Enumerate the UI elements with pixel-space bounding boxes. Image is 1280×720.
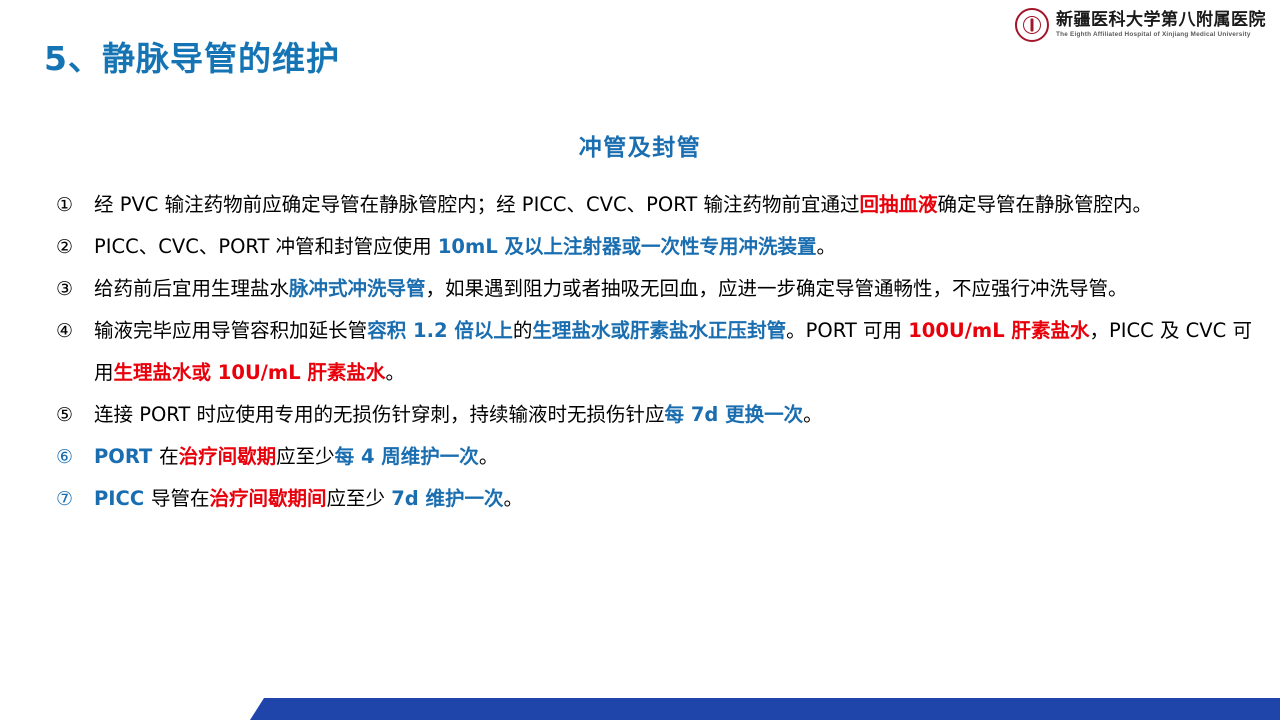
text-segment-black: 连接 PORT 时应使用专用的无损伤针穿刺，持续输液时无损伤针应 — [94, 403, 665, 426]
list-item: ⑦PICC 导管在治疗间歇期间应至少 7d 维护一次。 — [56, 478, 1252, 520]
text-segment-blue: 脉冲式冲洗导管 — [289, 277, 426, 300]
text-segment-black: 。 — [385, 361, 405, 384]
list-item-text: PICC 导管在治疗间歇期间应至少 7d 维护一次。 — [94, 478, 1252, 520]
text-segment-black: 。 — [504, 487, 524, 510]
list-item-marker: ⑤ — [56, 394, 94, 436]
text-segment-black: 导管在 — [151, 487, 210, 510]
list-item-text: PICC、CVC、PORT 冲管和封管应使用 10mL 及以上注射器或一次性专用… — [94, 226, 1252, 268]
text-segment-red: 回抽血液 — [859, 193, 937, 216]
text-segment-black: 。 — [817, 235, 837, 258]
list-item: ⑥PORT 在治疗间歇期应至少每 4 周维护一次。 — [56, 436, 1252, 478]
hospital-name-en: The Eighth Affiliated Hospital of Xinjia… — [1056, 32, 1266, 38]
list-item: ②PICC、CVC、PORT 冲管和封管应使用 10mL 及以上注射器或一次性专… — [56, 226, 1252, 268]
text-segment-blue: 每 4 周维护一次 — [335, 445, 479, 468]
text-segment-black: 应至少 — [276, 445, 335, 468]
section-heading: 冲管及封管 — [0, 128, 1280, 162]
text-segment-black: 应至少 — [327, 487, 392, 510]
list-item-text: 输液完毕应用导管容积加延长管容积 1.2 倍以上的生理盐水或肝素盐水正压封管。P… — [94, 310, 1252, 394]
page-title: 5、静脉导管的维护 — [44, 32, 340, 80]
list-item-text: 给药前后宜用生理盐水脉冲式冲洗导管，如果遇到阻力或者抽吸无回血，应进一步确定导管… — [94, 268, 1252, 310]
list-item-marker: ⑦ — [56, 478, 94, 520]
list-item-text: PORT 在治疗间歇期应至少每 4 周维护一次。 — [94, 436, 1252, 478]
text-segment-blue: PORT — [94, 445, 159, 468]
footer-accent-bar — [250, 698, 1280, 720]
list-item-marker: ① — [56, 184, 94, 226]
text-segment-red: 生理盐水或 10U/mL 肝素盐水 — [114, 361, 386, 384]
text-segment-red: 100U/mL 肝素盐水 — [908, 319, 1089, 342]
hospital-name-cn: 新疆医科大学第八附属医院 — [1056, 12, 1266, 29]
list-item-text: 连接 PORT 时应使用专用的无损伤针穿刺，持续输液时无损伤针应每 7d 更换一… — [94, 394, 1252, 436]
list-item-marker: ② — [56, 226, 94, 268]
text-segment-black: 经 PVC 输注药物前应确定导管在静脉管腔内；经 PICC、CVC、PORT 输… — [94, 193, 859, 216]
hospital-logo-text: 新疆医科大学第八附属医院 The Eighth Affiliated Hospi… — [1056, 12, 1266, 38]
list-item-marker: ③ — [56, 268, 94, 310]
text-segment-black: 。 — [479, 445, 499, 468]
text-segment-black: 。PORT 可用 — [786, 319, 908, 342]
list-item-marker: ④ — [56, 310, 94, 352]
text-segment-blue: 10mL 及以上注射器或一次性专用冲洗装置 — [438, 235, 817, 258]
hospital-logo: 新疆医科大学第八附属医院 The Eighth Affiliated Hospi… — [1015, 8, 1266, 42]
text-segment-black: 在 — [159, 445, 179, 468]
text-segment-blue: 生理盐水或肝素盐水正压封管 — [532, 319, 786, 342]
hospital-seal-icon — [1015, 8, 1049, 42]
text-segment-black: PICC、CVC、PORT 冲管和封管应使用 — [94, 235, 438, 258]
text-segment-red: 治疗间歇期间 — [209, 487, 326, 510]
text-segment-blue: 每 7d 更换一次 — [665, 403, 804, 426]
text-segment-black: 给药前后宜用生理盐水 — [94, 277, 289, 300]
text-segment-blue: 7d 维护一次 — [391, 487, 503, 510]
text-segment-black: 确定导管在静脉管腔内。 — [938, 193, 1153, 216]
text-segment-blue: 容积 1.2 倍以上 — [367, 319, 513, 342]
list-item-marker: ⑥ — [56, 436, 94, 478]
guideline-list: ①经 PVC 输注药物前应确定导管在静脉管腔内；经 PICC、CVC、PORT … — [56, 184, 1252, 520]
text-segment-blue: PICC — [94, 487, 151, 510]
text-segment-red: 治疗间歇期 — [179, 445, 277, 468]
list-item: ①经 PVC 输注药物前应确定导管在静脉管腔内；经 PICC、CVC、PORT … — [56, 184, 1252, 226]
text-segment-black: 输液完毕应用导管容积加延长管 — [94, 319, 367, 342]
text-segment-black: ，如果遇到阻力或者抽吸无回血，应进一步确定导管通畅性，不应强行冲洗导管。 — [426, 277, 1128, 300]
text-segment-black: 的 — [513, 319, 533, 342]
list-item-text: 经 PVC 输注药物前应确定导管在静脉管腔内；经 PICC、CVC、PORT 输… — [94, 184, 1252, 226]
list-item: ⑤连接 PORT 时应使用专用的无损伤针穿刺，持续输液时无损伤针应每 7d 更换… — [56, 394, 1252, 436]
text-segment-black: 。 — [803, 403, 823, 426]
list-item: ③给药前后宜用生理盐水脉冲式冲洗导管，如果遇到阻力或者抽吸无回血，应进一步确定导… — [56, 268, 1252, 310]
list-item: ④输液完毕应用导管容积加延长管容积 1.2 倍以上的生理盐水或肝素盐水正压封管。… — [56, 310, 1252, 394]
